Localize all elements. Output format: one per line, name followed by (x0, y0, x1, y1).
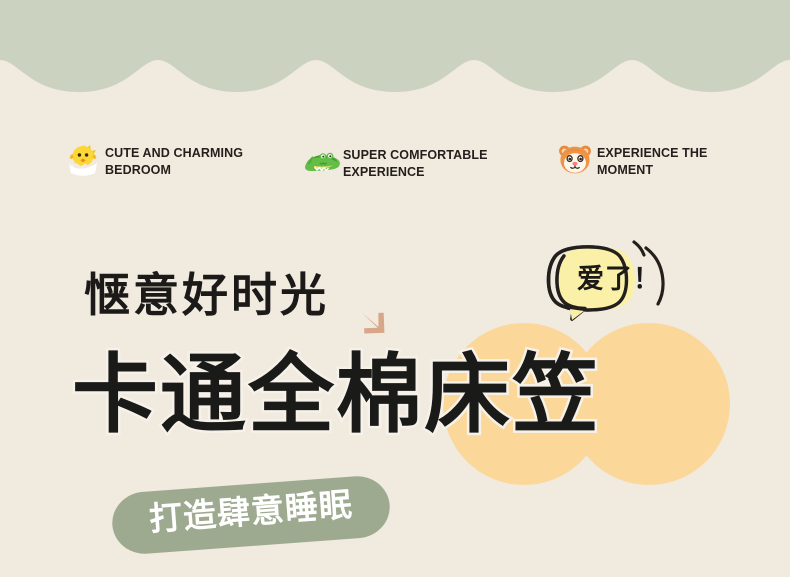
speech-bubble: 爱了！ (534, 232, 704, 342)
feature-item-cute-charming: CUTE AND CHARMING BEDROOM (62, 140, 243, 180)
arrow-down-right-icon (352, 300, 394, 342)
feature-label: CUTE AND CHARMING BEDROOM (105, 140, 243, 179)
feature-label: SUPER COMFORTABLE EXPERIENCE (343, 142, 488, 181)
crocodile-icon (300, 140, 342, 182)
main-title: 卡通全棉床笠 (72, 352, 600, 438)
scalloped-top-edge (0, 0, 790, 92)
feature-label: EXPERIENCE THE MOMENT (597, 140, 707, 179)
feature-item-experience-moment: EXPERIENCE THE MOMENT (554, 140, 707, 180)
pill-banner: 打造肆意睡眠 (112, 484, 390, 554)
feature-item-super-comfortable: SUPER COMFORTABLE EXPERIENCE (300, 142, 488, 182)
promo-banner-root: CUTE AND CHARMING BEDROOM (0, 0, 790, 577)
chick-in-eggshell-icon (62, 138, 104, 180)
hamster-face-icon (554, 138, 596, 180)
speech-bubble-text: 爱了！ (566, 266, 672, 293)
sub-headline: 惬意好时光 (84, 272, 329, 318)
feature-row: CUTE AND CHARMING BEDROOM (0, 138, 790, 194)
